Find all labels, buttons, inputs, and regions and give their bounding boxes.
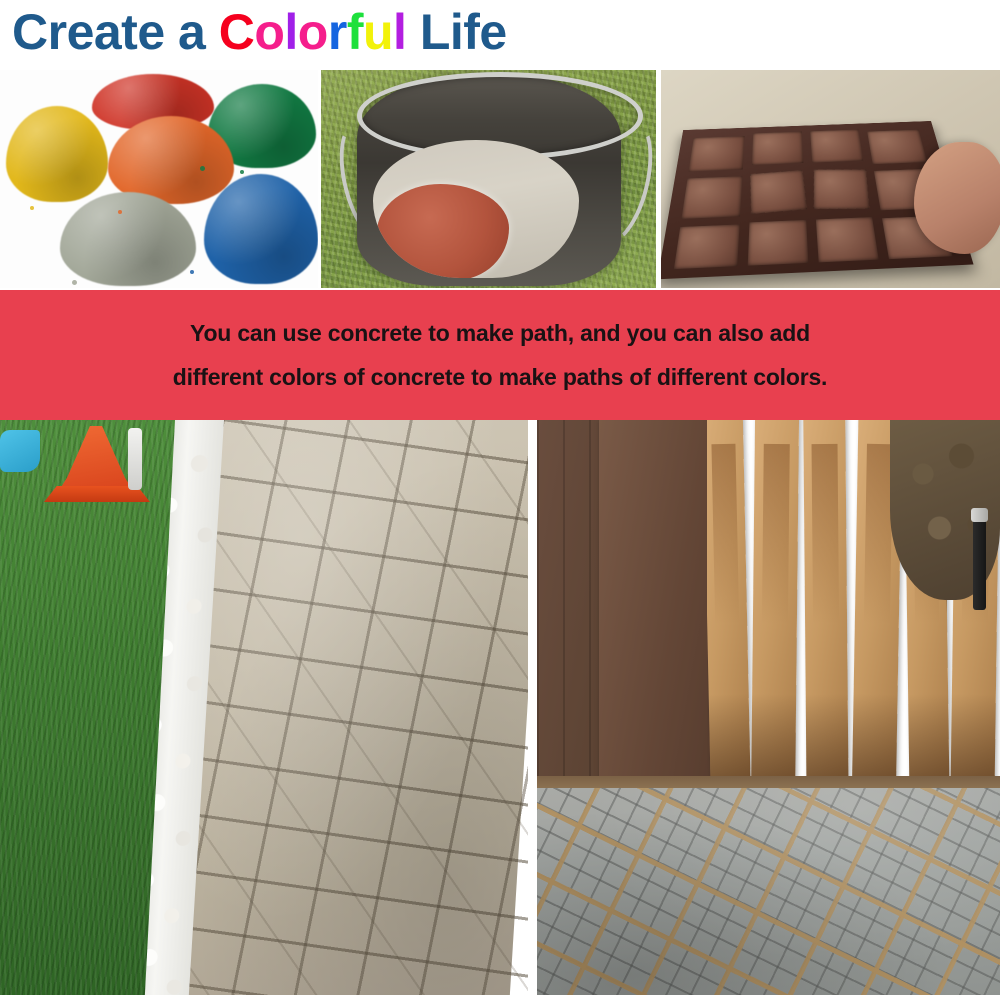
title-segment-6: f (347, 4, 363, 60)
powder-speck (240, 170, 244, 174)
board-stain (762, 444, 790, 624)
concrete-mold-photo (661, 70, 1000, 288)
mold-cell (810, 129, 863, 162)
title-segment-1: C (219, 4, 255, 60)
bucket-interior-water (373, 140, 579, 278)
brown-door-panel (599, 420, 717, 810)
beige-stamped-paving (170, 420, 528, 995)
dark-pole (973, 514, 986, 610)
top-photo-row (0, 70, 1000, 288)
pole-cap (971, 508, 988, 522)
green-lawn (0, 420, 175, 995)
powder-speck (200, 166, 205, 171)
beige-path-photo (0, 420, 528, 995)
mold-cell (748, 220, 809, 266)
mold-cell (674, 224, 740, 269)
hand-lifting-mold (914, 142, 1000, 254)
powder-speck (118, 210, 122, 214)
mold-cell (816, 217, 879, 262)
red-pigment-slurry (377, 184, 509, 278)
title-segment-8: l (393, 4, 406, 60)
fence-board (751, 420, 799, 814)
powder-speck (190, 270, 194, 274)
mold-cell (681, 176, 742, 219)
board-stain (812, 444, 839, 624)
grey-cobblestone-paving (537, 788, 1000, 995)
title-segment-4: o (298, 4, 328, 60)
mold-cell (752, 132, 803, 165)
mold-cell (867, 130, 927, 165)
banner-line-2: different colors of concrete to make pat… (173, 355, 828, 399)
fence-board (707, 420, 751, 814)
title-segment-7: u (363, 4, 393, 60)
page-title: Create a Colorful Life (12, 2, 992, 64)
bucket-mixing-photo (321, 70, 656, 288)
mold-cell (814, 170, 870, 209)
wooden-fence (707, 420, 1000, 820)
bottom-photo-row (0, 420, 1000, 995)
title-segment-3: l (284, 4, 297, 60)
mold-cell (750, 170, 807, 214)
title-segment-0: Create a (12, 4, 219, 60)
pigment-powder-photo (0, 70, 318, 288)
blue-toy (0, 430, 40, 472)
white-post (128, 428, 142, 490)
title-segment-5: r (328, 4, 347, 60)
title-segment-9: Life (406, 4, 506, 60)
product-infographic: Create a Colorful Life (0, 0, 1000, 995)
powder-speck (72, 280, 77, 285)
board-stain (864, 444, 894, 624)
grey-cobble-patio-photo (537, 420, 1000, 995)
powder-speck (30, 206, 34, 210)
mold-cell (689, 136, 745, 171)
banner-line-1: You can use concrete to make path, and y… (190, 311, 810, 355)
info-banner: You can use concrete to make path, and y… (0, 290, 1000, 420)
board-stain (711, 444, 739, 624)
title-segment-2: o (254, 4, 284, 60)
fence-board (803, 420, 848, 814)
